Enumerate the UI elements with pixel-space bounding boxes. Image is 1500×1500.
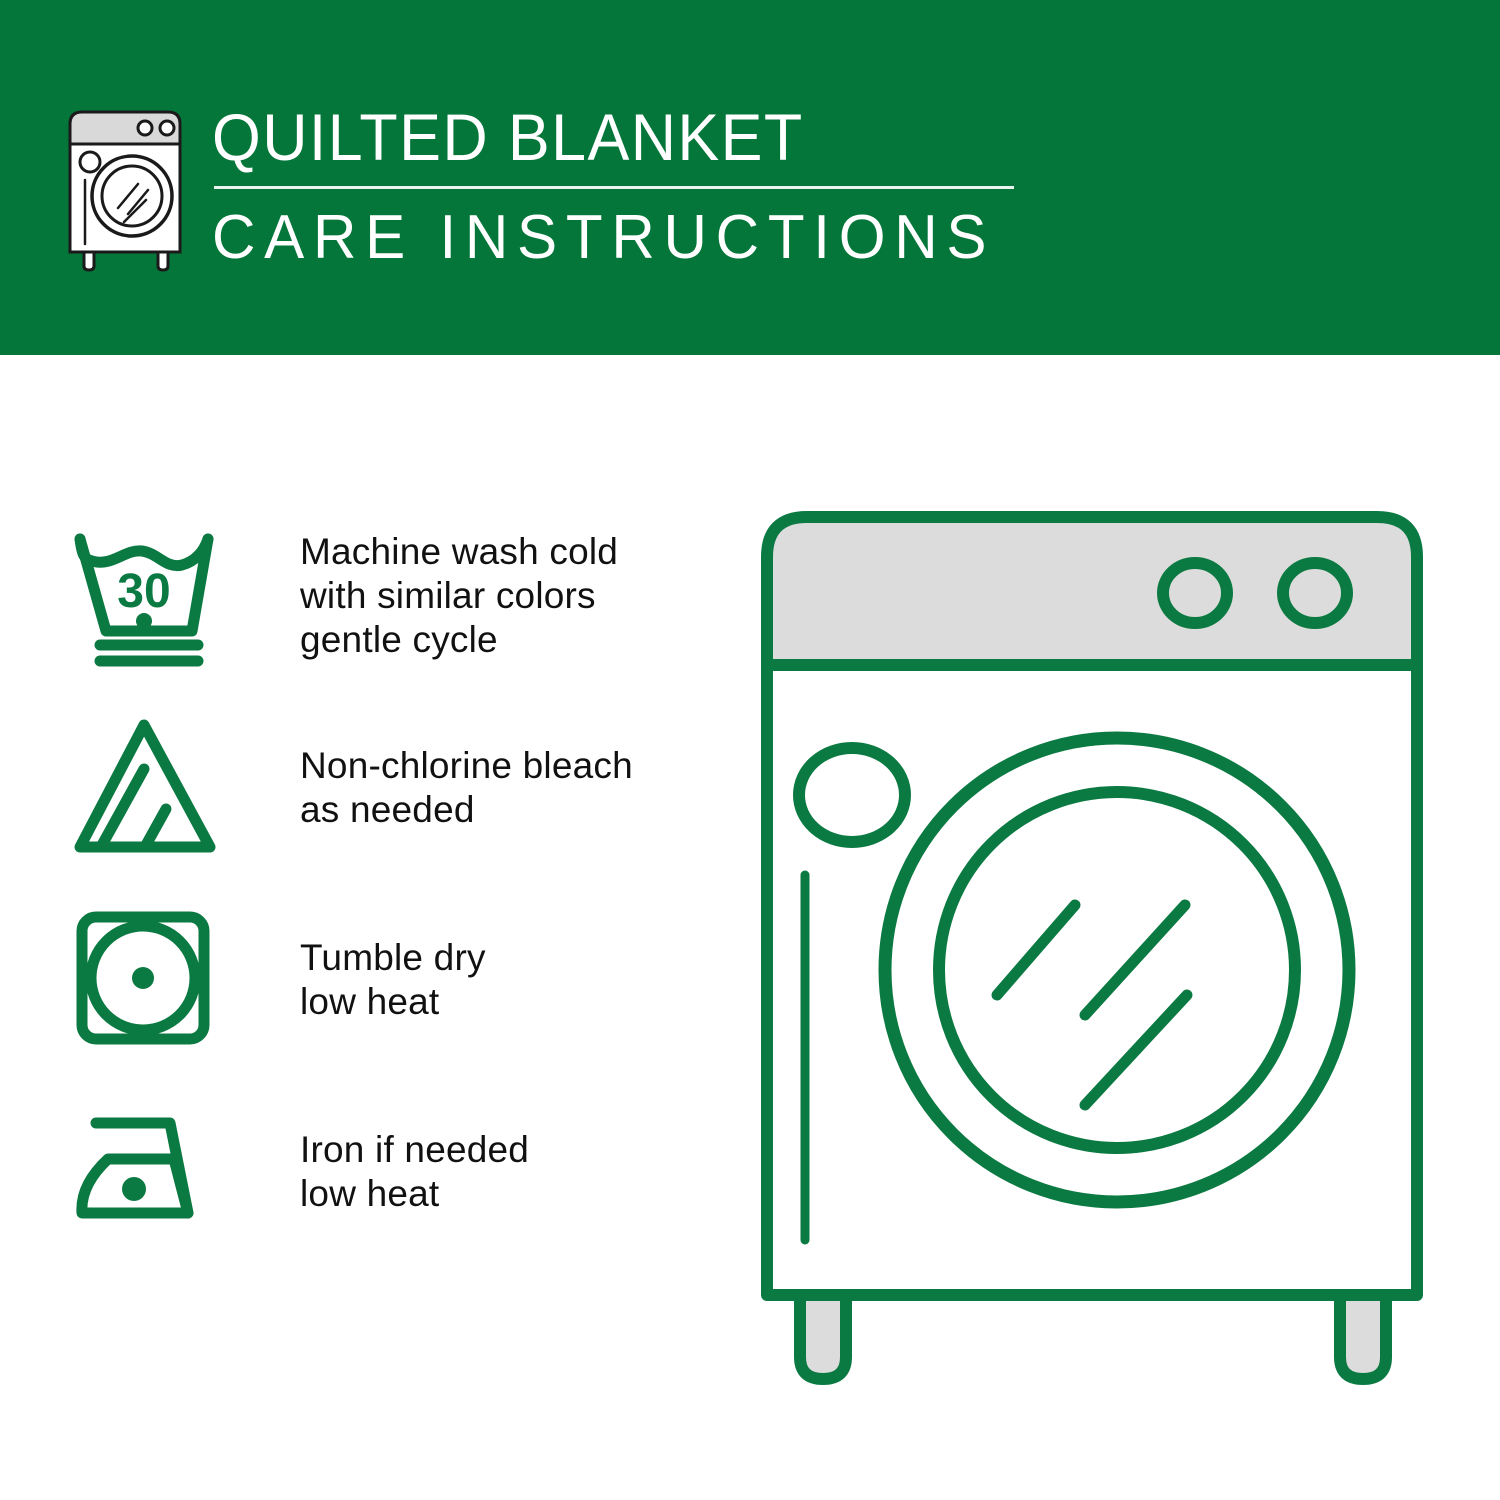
page-subtitle: CARE INSTRUCTIONS [212, 203, 995, 273]
wash-temperature-label: 30 [117, 565, 170, 618]
non-chlorine-bleach-symbol [70, 708, 242, 868]
machine-leg [800, 1295, 846, 1379]
care-row: Iron if needed low heat [70, 1076, 720, 1268]
care-row: Tumble dry low heat [70, 884, 720, 1076]
care-row: Non-chlorine bleach as needed [70, 692, 720, 884]
machine-wash-30-symbol: 30 [70, 516, 242, 676]
page-title: QUILTED BLANKET [212, 100, 979, 174]
care-text: Machine wash cold with similar colors ge… [300, 530, 618, 662]
control-knob [1283, 563, 1347, 623]
detergent-dispenser [799, 748, 905, 842]
care-text: Iron if needed low heat [300, 1128, 529, 1216]
header-title-block: QUILTED BLANKET CARE INSTRUCTIONS [212, 100, 1019, 273]
header-banner: QUILTED BLANKET CARE INSTRUCTIONS [0, 0, 1500, 355]
tumble-dry-low-symbol [70, 900, 242, 1060]
care-row: 30 Machine wash cold with similar colors… [70, 500, 720, 692]
drum-inner-ring [939, 792, 1295, 1148]
iron-low-heat-symbol [70, 1092, 242, 1252]
control-knob [1163, 563, 1227, 623]
care-text: Non-chlorine bleach as needed [300, 744, 633, 832]
care-instruction-list: 30 Machine wash cold with similar colors… [70, 500, 720, 1268]
care-text: Tumble dry low heat [300, 936, 486, 1024]
header-content: QUILTED BLANKET CARE INSTRUCTIONS [62, 100, 1019, 273]
large-washing-machine-illustration [745, 495, 1460, 1415]
washing-machine-icon [62, 104, 192, 272]
machine-leg [1340, 1295, 1386, 1379]
title-divider [214, 186, 1014, 189]
